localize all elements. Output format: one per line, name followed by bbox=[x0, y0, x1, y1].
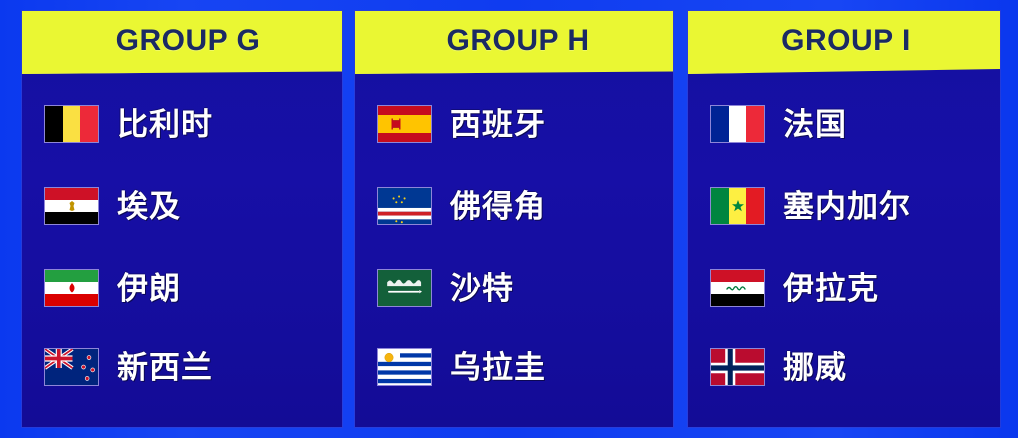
team-row[interactable]: 法国 bbox=[710, 104, 992, 144]
team-row[interactable]: 新西兰 bbox=[44, 347, 334, 387]
saudi-arabia-flag bbox=[377, 269, 432, 307]
team-name: 法国 bbox=[783, 109, 847, 140]
team-name: 塞内加尔 bbox=[783, 191, 911, 222]
takbir-script-icon bbox=[725, 284, 751, 292]
norway-flag-art bbox=[711, 349, 765, 386]
egypt-flag bbox=[44, 187, 99, 225]
france-flag bbox=[710, 105, 765, 143]
belgium-flag bbox=[44, 105, 99, 143]
team-name: 佛得角 bbox=[450, 191, 546, 222]
group-title: GROUP G bbox=[116, 26, 261, 60]
spain-coat-of-arms-icon bbox=[391, 118, 402, 131]
uruguay-flag-art bbox=[378, 349, 432, 386]
group-panel-i: GROUP I 法国 塞内加尔 bbox=[688, 11, 1000, 427]
iran-emblem-icon bbox=[65, 282, 78, 294]
senegal-flag bbox=[710, 187, 765, 225]
team-list-h: 西班牙 bbox=[355, 74, 673, 427]
team-row[interactable]: 埃及 bbox=[44, 186, 334, 226]
team-row[interactable]: 塞内加尔 bbox=[710, 186, 992, 226]
cape-verde-flag bbox=[377, 187, 432, 225]
spain-flag bbox=[377, 105, 432, 143]
team-row[interactable]: 佛得角 bbox=[377, 186, 665, 226]
team-list-i: 法国 塞内加尔 伊拉克 bbox=[688, 74, 1000, 427]
group-title: GROUP I bbox=[781, 26, 911, 60]
group-header-g: GROUP G bbox=[22, 11, 342, 74]
iraq-flag bbox=[710, 269, 765, 307]
team-row[interactable]: 伊朗 bbox=[44, 268, 334, 308]
team-row[interactable]: 沙特 bbox=[377, 268, 665, 308]
team-name: 挪威 bbox=[783, 352, 847, 383]
uruguay-flag bbox=[377, 348, 432, 386]
saudi-arabia-flag-art bbox=[378, 270, 432, 307]
new-zealand-flag bbox=[44, 348, 99, 386]
team-name: 乌拉圭 bbox=[450, 352, 546, 383]
cape-verde-flag-art bbox=[378, 188, 432, 225]
green-star-icon bbox=[731, 199, 745, 213]
team-row[interactable]: 伊拉克 bbox=[710, 268, 992, 308]
group-header-i: GROUP I bbox=[688, 11, 1000, 74]
eagle-emblem-icon bbox=[65, 200, 79, 212]
team-row[interactable]: 挪威 bbox=[710, 347, 992, 387]
group-title: GROUP H bbox=[447, 26, 590, 60]
iran-flag bbox=[44, 269, 99, 307]
team-name: 比利时 bbox=[117, 109, 213, 140]
team-row[interactable]: 西班牙 bbox=[377, 104, 665, 144]
norway-flag bbox=[710, 348, 765, 386]
group-board: GROUP G 比利时 埃及 bbox=[0, 0, 1018, 438]
group-panel-h: GROUP H 西班牙 bbox=[355, 11, 673, 427]
team-list-g: 比利时 埃及 伊朗 bbox=[22, 74, 342, 427]
group-panel-g: GROUP G 比利时 埃及 bbox=[22, 11, 342, 427]
team-name: 伊朗 bbox=[117, 273, 181, 304]
team-name: 埃及 bbox=[117, 191, 181, 222]
team-row[interactable]: 比利时 bbox=[44, 104, 334, 144]
team-row[interactable]: 乌拉圭 bbox=[377, 347, 665, 387]
new-zealand-flag-art bbox=[45, 349, 99, 386]
team-name: 沙特 bbox=[450, 273, 514, 304]
team-name: 西班牙 bbox=[450, 109, 546, 140]
group-header-h: GROUP H bbox=[355, 11, 673, 74]
team-name: 伊拉克 bbox=[783, 273, 879, 304]
team-name: 新西兰 bbox=[117, 352, 213, 383]
